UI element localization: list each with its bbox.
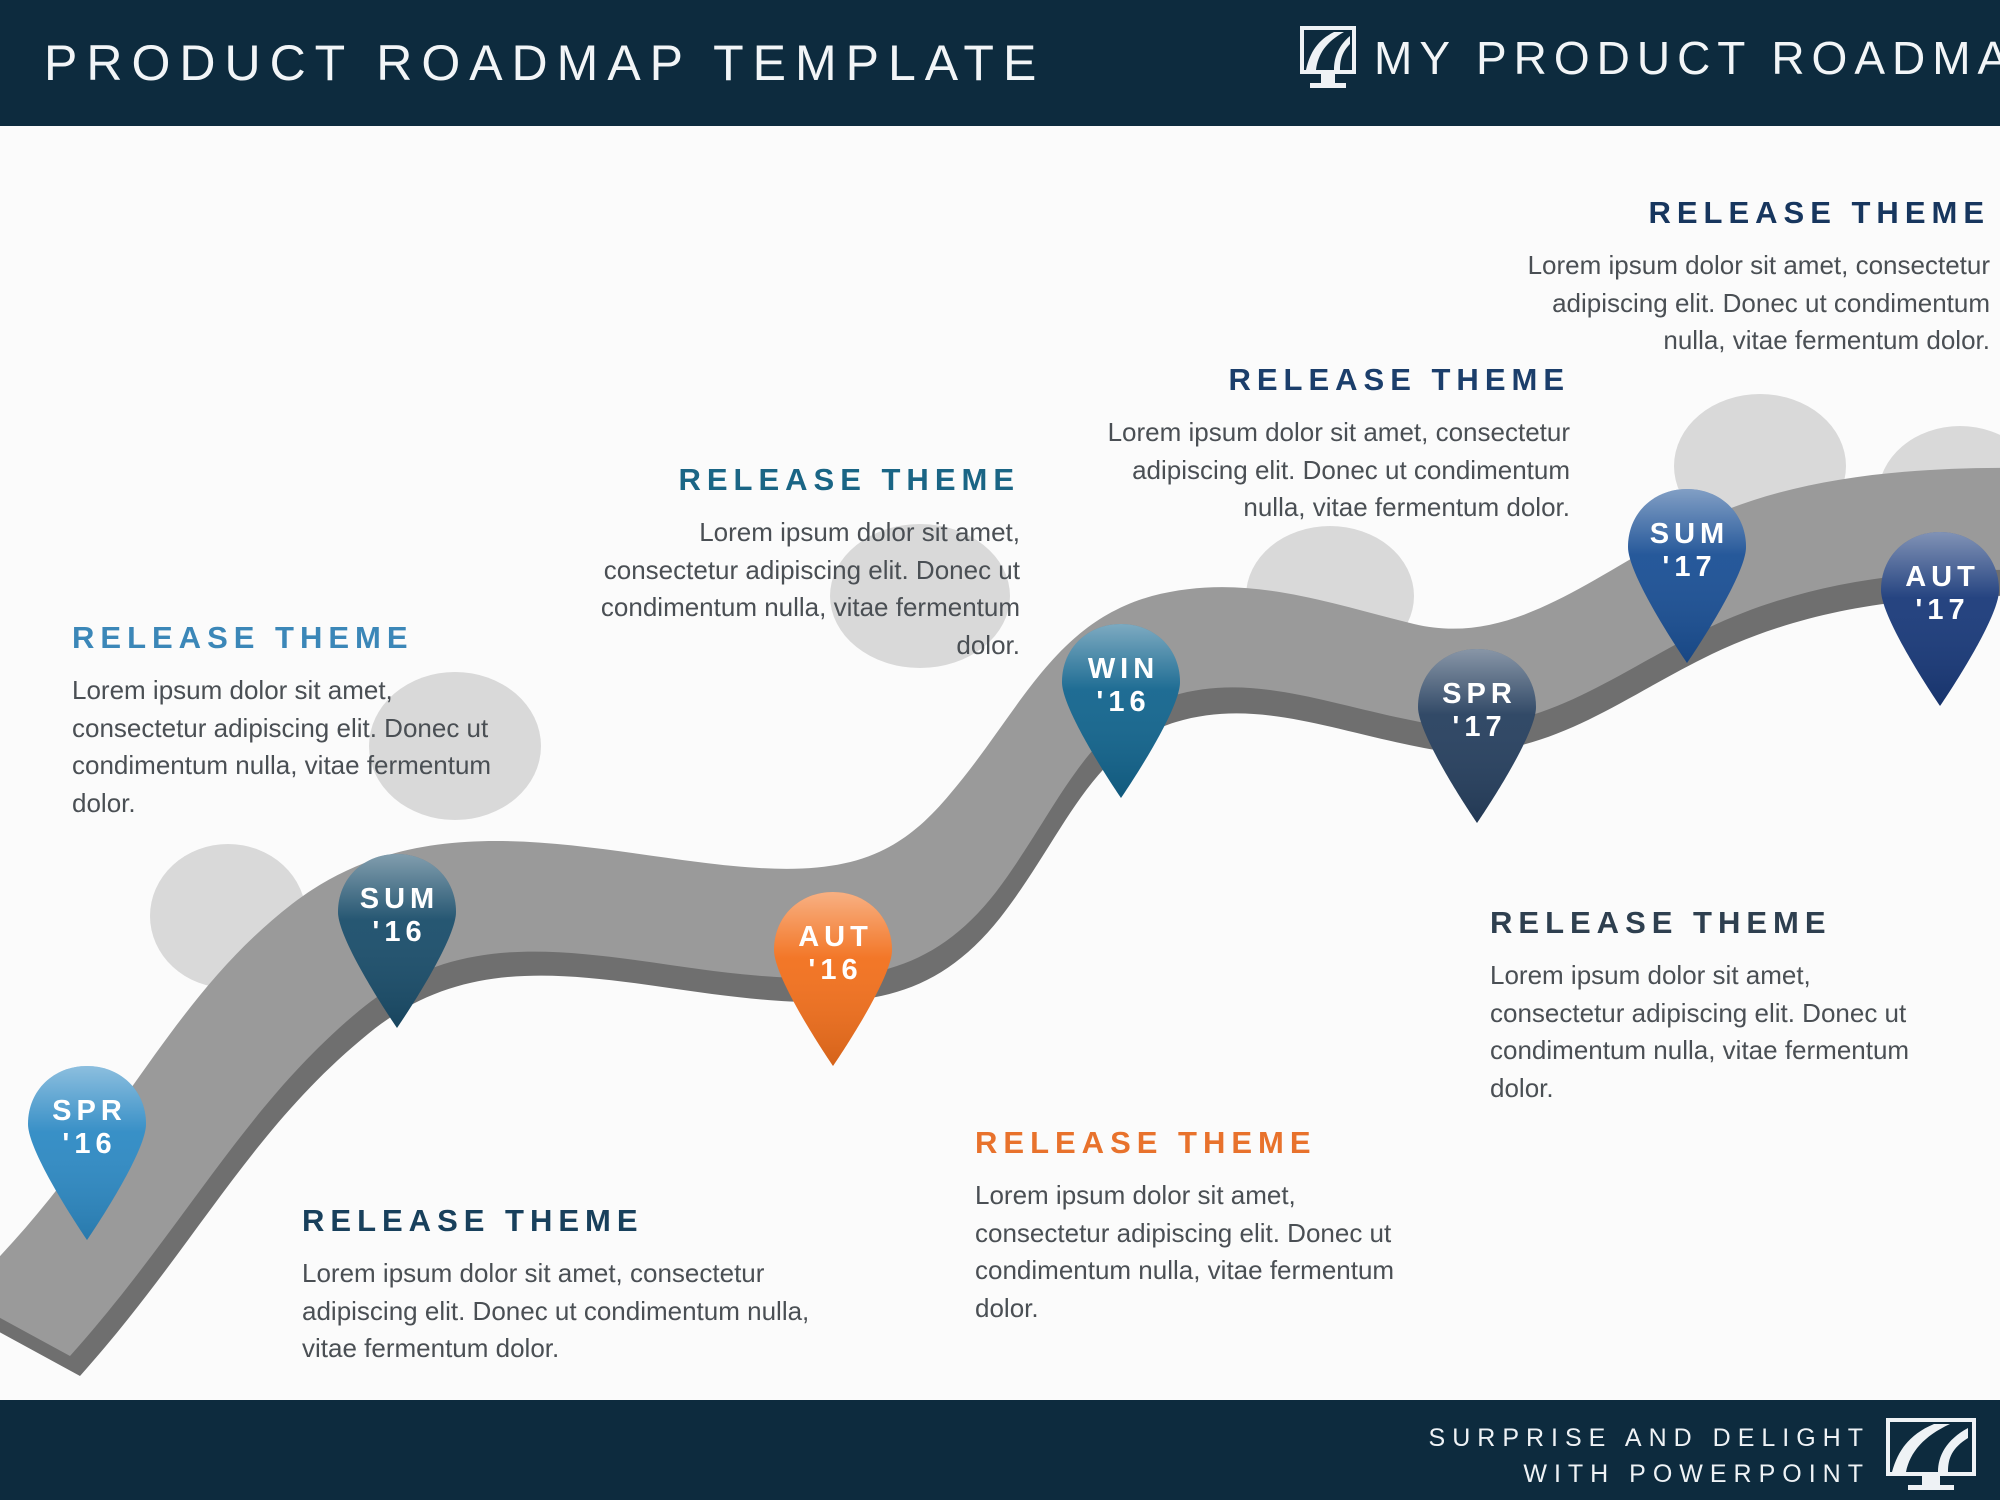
theme-body-sum-16: Lorem ipsum dolor sit amet, consectetur … <box>302 1255 862 1368</box>
theme-body-sum-17: Lorem ipsum dolor sit amet, consectetur … <box>1505 247 1990 360</box>
footer-tagline-line2: WITH POWERPOINT <box>1429 1456 1870 1492</box>
theme-title-spr-17: RELEASE THEME <box>1090 362 1570 398</box>
theme-block-spr-16: RELEASE THEME Lorem ipsum dolor sit amet… <box>72 620 502 823</box>
pin-drop-aut-16 <box>768 888 898 1066</box>
theme-block-aut-16: RELEASE THEME Lorem ipsum dolor sit amet… <box>975 1125 1425 1328</box>
milestone-pin-aut-16[interactable]: AUT '16 <box>768 888 898 1066</box>
page-title: PRODUCT ROADMAP TEMPLATE <box>44 34 1045 92</box>
page-footer: SURPRISE AND DELIGHT WITH POWERPOINT <box>0 1400 2000 1500</box>
theme-block-win-16: RELEASE THEME Lorem ipsum dolor sit amet… <box>565 462 1020 665</box>
pin-drop-aut-17 <box>1875 528 2000 706</box>
theme-title-sum-16: RELEASE THEME <box>302 1203 862 1239</box>
milestone-pin-aut-17[interactable]: AUT '17 <box>1875 528 2000 706</box>
theme-title-aut-16: RELEASE THEME <box>975 1125 1425 1161</box>
pin-drop-spr-17 <box>1412 645 1542 823</box>
milestone-pin-sum-17[interactable]: SUM '17 <box>1622 485 1752 663</box>
theme-body-aut-16: Lorem ipsum dolor sit amet, consectetur … <box>975 1177 1425 1328</box>
page-header: PRODUCT ROADMAP TEMPLATE MY PRODUCT ROAD… <box>0 0 2000 126</box>
theme-body-win-16: Lorem ipsum dolor sit amet, consectetur … <box>565 514 1020 665</box>
theme-title-aut-17: RELEASE THEME <box>1490 905 1910 941</box>
theme-block-aut-17: RELEASE THEME Lorem ipsum dolor sit amet… <box>1490 905 1910 1108</box>
road-glyph <box>1304 30 1352 70</box>
milestone-pin-sum-16[interactable]: SUM '16 <box>332 850 462 1028</box>
milestone-pin-spr-16[interactable]: SPR '16 <box>22 1062 152 1240</box>
theme-body-spr-16: Lorem ipsum dolor sit amet, consectetur … <box>72 672 502 823</box>
milestone-pin-win-16[interactable]: WIN '16 <box>1056 620 1186 798</box>
monitor-road-icon <box>1300 26 1362 90</box>
footer-tagline-line1: SURPRISE AND DELIGHT <box>1429 1420 1870 1456</box>
road-glyph-footer <box>1890 1422 1972 1472</box>
theme-block-spr-17: RELEASE THEME Lorem ipsum dolor sit amet… <box>1090 362 1570 527</box>
theme-title-spr-16: RELEASE THEME <box>72 620 502 656</box>
brand-name: MY PRODUCT ROADMAP <box>1374 31 2000 85</box>
monitor-road-icon-footer <box>1886 1418 1982 1492</box>
pin-drop-sum-17 <box>1622 485 1752 663</box>
milestone-pin-spr-17[interactable]: SPR '17 <box>1412 645 1542 823</box>
theme-title-win-16: RELEASE THEME <box>565 462 1020 498</box>
theme-block-sum-17: RELEASE THEME Lorem ipsum dolor sit amet… <box>1505 195 1990 360</box>
pin-drop-sum-16 <box>332 850 462 1028</box>
brand-lockup: MY PRODUCT ROADMAP <box>1300 26 2000 90</box>
pin-drop-win-16 <box>1056 620 1186 798</box>
pin-drop-spr-16 <box>22 1062 152 1240</box>
theme-body-aut-17: Lorem ipsum dolor sit amet, consectetur … <box>1490 957 1910 1108</box>
theme-block-sum-16: RELEASE THEME Lorem ipsum dolor sit amet… <box>302 1203 862 1368</box>
footer-tagline: SURPRISE AND DELIGHT WITH POWERPOINT <box>1429 1420 1870 1493</box>
theme-body-spr-17: Lorem ipsum dolor sit amet, consectetur … <box>1090 414 1570 527</box>
theme-title-sum-17: RELEASE THEME <box>1505 195 1990 231</box>
